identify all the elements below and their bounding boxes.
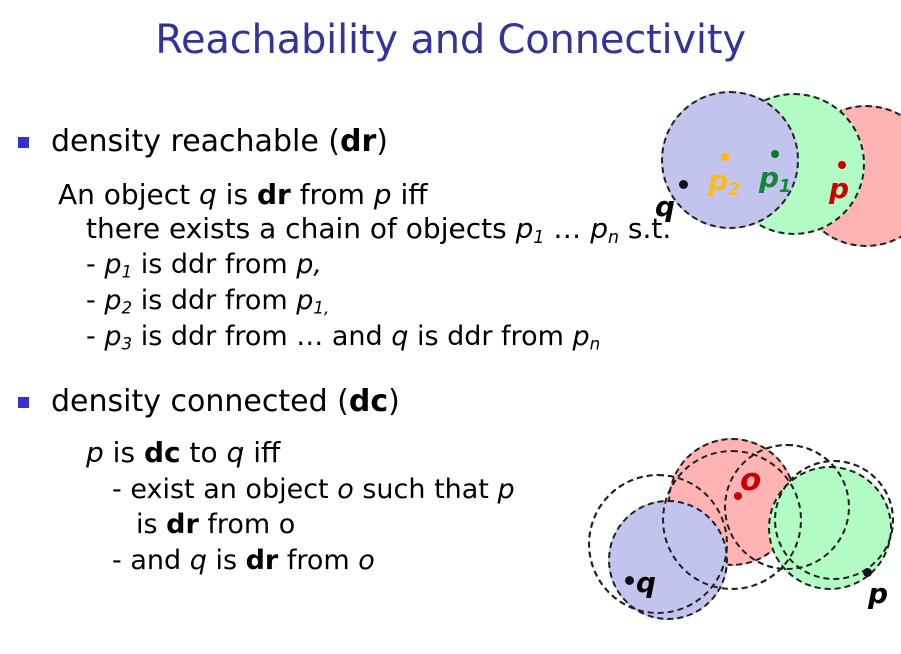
point-p2-sub: 2 <box>728 180 740 200</box>
dr-i3-a-sub: 3 <box>121 334 132 354</box>
dr-definition-line-1: An object q is dr from p iff <box>58 178 428 211</box>
dr-i1-dash: - <box>86 249 96 280</box>
dr-i3-pn-sub: n <box>590 334 601 354</box>
dc-i2-dash: - <box>112 545 122 576</box>
dr-i3-a: p <box>104 321 121 352</box>
dc-i2-q: q <box>190 545 207 576</box>
dc-i2-c: from <box>278 545 358 576</box>
dc-i2-a: and <box>130 545 189 576</box>
point-o-label: o <box>740 466 761 494</box>
density-connected-diagram: o q p <box>578 428 901 642</box>
dr-i2-tail: , <box>324 298 329 318</box>
point-p2-label: p2 <box>708 167 740 204</box>
dc-i1-dash: - <box>112 474 122 505</box>
dc-i2-o: o <box>358 545 375 576</box>
point-p1-label: p1 <box>759 164 791 201</box>
dc-i1-o: o <box>337 474 354 505</box>
dc-sub-item-2: - and q is dr from o <box>112 545 375 577</box>
dr-l1-b: is <box>217 178 257 211</box>
dr-i2-c-sub: 1 <box>313 298 324 318</box>
dr-sub-item-2: - p2 is ddr from p1, <box>86 285 329 324</box>
point-p-dot <box>838 161 846 169</box>
bullet-label-suffix: ) <box>376 124 388 159</box>
dc-l1-a: is <box>104 436 144 469</box>
point-p-label: p <box>868 580 888 608</box>
dr-i2-a: p <box>104 285 121 316</box>
dr-i1-a: p <box>104 249 121 280</box>
dr-i3-dash: - <box>86 321 96 352</box>
point-p1-letter: p <box>759 161 779 194</box>
dr-l1-a: An object <box>58 178 199 211</box>
dr-i3-c: q <box>391 321 408 352</box>
dr-l2-b: … <box>544 212 590 245</box>
dr-l2-p1: p <box>516 212 534 245</box>
dr-i1-a-sub: 1 <box>121 262 132 282</box>
point-q-label: q <box>636 569 656 597</box>
dc-l1-dc: dc <box>144 436 181 469</box>
dr-i3-pn: p <box>572 321 589 352</box>
bullet-density-connected: density connected (dc) <box>18 385 400 419</box>
point-p2-letter: p <box>708 164 728 197</box>
bullet-label-suffix: ) <box>388 384 400 419</box>
dr-l1-d: iff <box>392 178 428 211</box>
bullet-label-bold: dr <box>340 124 376 159</box>
dc-i2-dr: dr <box>246 545 279 576</box>
point-q-dot <box>679 180 688 189</box>
dr-i3-b: is ddr from … and <box>132 321 391 352</box>
dr-i1-c: p <box>296 249 313 280</box>
dr-i1-tail: , <box>313 249 322 280</box>
blue-circle <box>661 91 799 229</box>
dr-l1-c: from <box>291 178 374 211</box>
point-p-label: p <box>829 175 849 203</box>
point-p2-dot <box>721 153 729 161</box>
dc-i1-b: such that <box>354 474 498 505</box>
dr-l1-p: p <box>374 178 392 211</box>
dc-l1-q: q <box>227 436 245 469</box>
dr-l2-pn-sub: n <box>608 228 619 248</box>
bullet-label-density-connected: density connected (dc) <box>51 385 400 419</box>
dc-i1c-b: from o <box>199 509 296 540</box>
dc-definition-line-1: p is dc to q iff <box>86 436 280 469</box>
density-reachable-diagram: q p2 p1 p <box>655 85 901 245</box>
dc-l1-c: iff <box>244 436 280 469</box>
dr-i2-c: p <box>296 285 313 316</box>
dr-i2-dash: - <box>86 285 96 316</box>
point-q-label: q <box>655 193 675 221</box>
square-bullet-icon <box>18 397 29 408</box>
point-p1-sub: 1 <box>779 177 791 197</box>
point-q-dot <box>625 576 634 585</box>
point-p-dot <box>863 568 872 577</box>
dr-l1-dr: dr <box>257 178 291 211</box>
dc-i1c-dr: dr <box>166 509 199 540</box>
bullet-label-prefix: density reachable ( <box>51 124 340 159</box>
dc-sub-item-1: - exist an object o such that p <box>112 474 515 506</box>
dr-i2-b: is ddr from <box>132 285 296 316</box>
dr-sub-item-1: - p1 is ddr from p, <box>86 249 322 288</box>
dr-i2-a-sub: 2 <box>121 298 132 318</box>
dr-l2-pn: p <box>590 212 608 245</box>
dr-l1-q: q <box>199 178 217 211</box>
bullet-density-reachable: density reachable (dr) <box>18 125 388 159</box>
page-title: Reachability and Connectivity <box>0 16 901 64</box>
dr-l2-p1-sub: 1 <box>533 228 544 248</box>
dc-i1-p: p <box>497 474 514 505</box>
dc-i1c-a: is <box>136 509 166 540</box>
dc-sub-item-1-cont: is dr from o <box>136 509 295 541</box>
dc-i1-a: exist an object <box>130 474 337 505</box>
point-p1-dot <box>771 150 779 158</box>
dr-i1-b: is ddr from <box>132 249 296 280</box>
dr-sub-item-3: - p3 is ddr from … and q is ddr from pn <box>86 321 600 360</box>
dc-i2-b: is <box>207 545 246 576</box>
slide-canvas: Reachability and Connectivity density re… <box>0 0 901 654</box>
square-bullet-icon <box>18 137 29 148</box>
outline-circle-4-overlay <box>774 460 894 580</box>
dc-l1-b: to <box>181 436 227 469</box>
bullet-label-density-reachable: density reachable (dr) <box>51 125 388 159</box>
dr-l2-a: there exists a chain of objects <box>86 212 516 245</box>
bullet-label-bold: dc <box>349 384 388 419</box>
bullet-label-prefix: density connected ( <box>51 384 349 419</box>
dr-i3-tail: is ddr from <box>408 321 572 352</box>
dc-l1-p: p <box>86 436 104 469</box>
